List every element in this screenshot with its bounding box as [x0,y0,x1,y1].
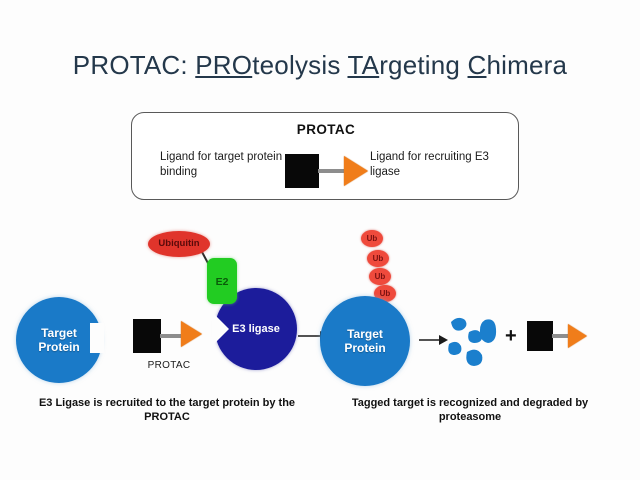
ligand-orange-triangle-icon [344,156,368,186]
legend-right-label: Ligand for recruiting E3 ligase [370,150,518,180]
title-segment-c: C [468,50,487,80]
e2-label: E2 [207,276,237,288]
target-protein-label-left: Target Protein [16,326,102,354]
title-segment: teolysis [252,50,347,80]
ub-bead-label-3: Ub [369,272,391,281]
ub-bead-label-4: Ub [374,289,396,298]
protac-molecule-label: PROTAC [133,360,205,371]
plus-sign: + [505,325,517,348]
protac-linker-icon [160,334,183,338]
title-segment: PROTAC: [73,50,195,80]
degraded-peptide-fragments-icon [447,312,505,368]
target-protein-label-right: Target Protein [320,327,410,355]
protac-legend-box: PROTAC Ligand for target protein binding… [131,112,519,200]
recycled-protac-orange-triangle-icon [568,324,587,348]
target-protein-line2: Protein [38,340,79,354]
title-segment-pro: PRO [195,50,252,80]
caption-right: Tagged target is recognized and degraded… [325,396,615,424]
title-segment-ta: TA [347,50,379,80]
ub-bead-label-1: Ub [361,234,383,243]
page-title: PROTAC: PROteolysis TArgeting Chimera [0,50,640,81]
protac-diagram-slide: PROTAC: PROteolysis TArgeting Chimera PR… [0,0,640,480]
target-protein-line2: Protein [344,341,385,355]
target-protein-line1: Target [41,326,77,340]
title-segment: himera [487,50,568,80]
ub-bead-label-2: Ub [367,254,389,263]
e3-ligase-label: E3 ligase [215,323,297,335]
ubiquitin-label: Ubiquitin [148,238,210,249]
ligand-black-square-icon [285,154,319,188]
caption-left: E3 Ligase is recruited to the target pro… [22,396,312,424]
protac-black-square-icon [133,319,161,353]
process-arrow-2-icon [419,332,449,348]
title-segment: rgeting [379,50,467,80]
legend-left-label: Ligand for target protein binding [160,150,300,180]
linker-icon [318,169,346,173]
legend-heading: PROTAC [132,122,520,137]
target-protein-line1: Target [347,327,383,341]
protac-orange-triangle-icon [181,321,202,347]
recycled-protac-black-square-icon [527,321,553,351]
